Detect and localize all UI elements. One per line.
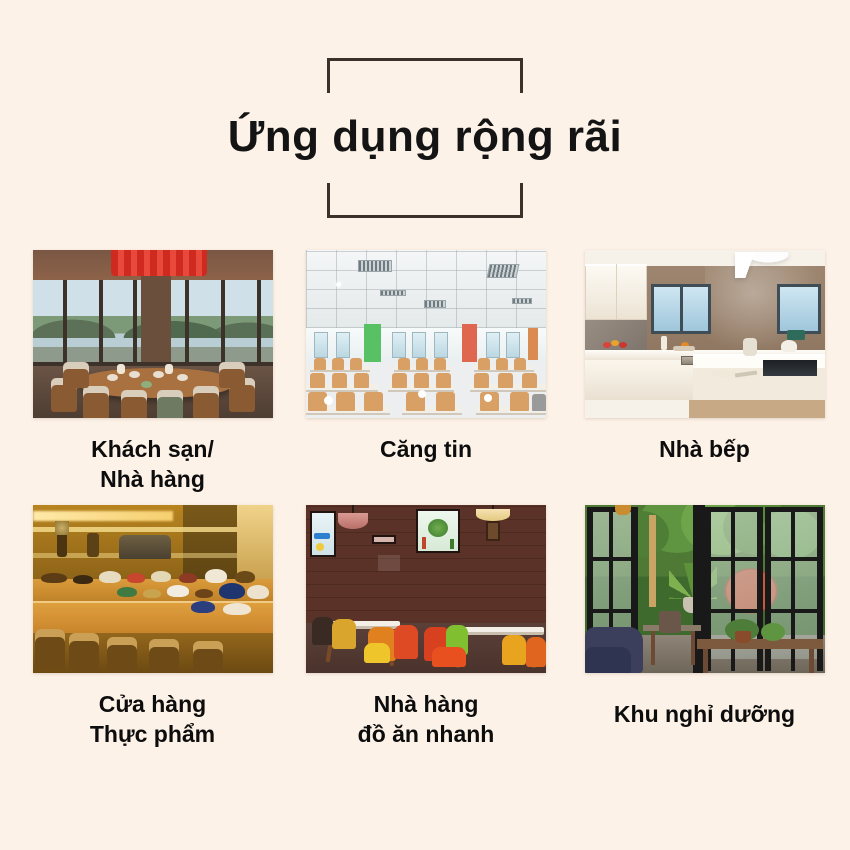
photo-frame: [33, 505, 273, 673]
scenario-card-food-store[interactable]: Cửa hàng Thực phẩm: [0, 505, 283, 760]
photo-frame: [33, 250, 273, 418]
photo-frame: [585, 250, 825, 418]
pendant-lamp-icon: [476, 509, 510, 521]
hotel-restaurant-image: [33, 250, 273, 418]
scenario-card-kitchen[interactable]: Nhà bếp: [567, 250, 850, 505]
page-header: Ứng dụng rộng rãi: [0, 58, 850, 218]
photo-frame: [306, 250, 546, 418]
pendant-lamp-icon: [338, 513, 368, 529]
scenario-caption: Nhà bếp: [659, 434, 750, 464]
food-store-image: [33, 505, 273, 673]
scenario-caption: Căng tin: [380, 434, 472, 464]
scenario-card-fast-food[interactable]: Nhà hàng đồ ăn nhanh: [283, 505, 567, 760]
ceiling-lamp-icon: [615, 505, 631, 515]
scenario-caption: Nhà hàng đồ ăn nhanh: [358, 689, 495, 750]
scenario-caption: Khu nghỉ dưỡng: [614, 699, 795, 729]
wall-sign: [372, 535, 396, 544]
bracket-top-decoration: [327, 58, 523, 93]
scenario-card-canteen[interactable]: Căng tin: [283, 250, 567, 505]
chandelier-icon: [735, 252, 801, 278]
page-title: Ứng dụng rộng rãi: [228, 93, 623, 183]
scenario-caption: Cửa hàng Thực phẩm: [90, 689, 215, 750]
scenario-card-resort[interactable]: Khu nghỉ dưỡng: [567, 505, 850, 760]
fast-food-image: [306, 505, 546, 673]
scenario-card-hotel-restaurant[interactable]: Khách sạn/ Nhà hàng: [0, 250, 283, 505]
bracket-bottom-decoration: [327, 183, 523, 218]
scenario-grid: Khách sạn/ Nhà hàng: [0, 250, 850, 760]
canteen-image: [306, 250, 546, 418]
kitchen-image: [585, 250, 825, 418]
scenario-caption: Khách sạn/ Nhà hàng: [91, 434, 214, 495]
resort-image: [585, 505, 825, 673]
photo-frame: [306, 505, 546, 673]
application-scenarios-page: Ứng dụng rộng rãi: [0, 0, 850, 850]
photo-frame: [585, 505, 825, 673]
